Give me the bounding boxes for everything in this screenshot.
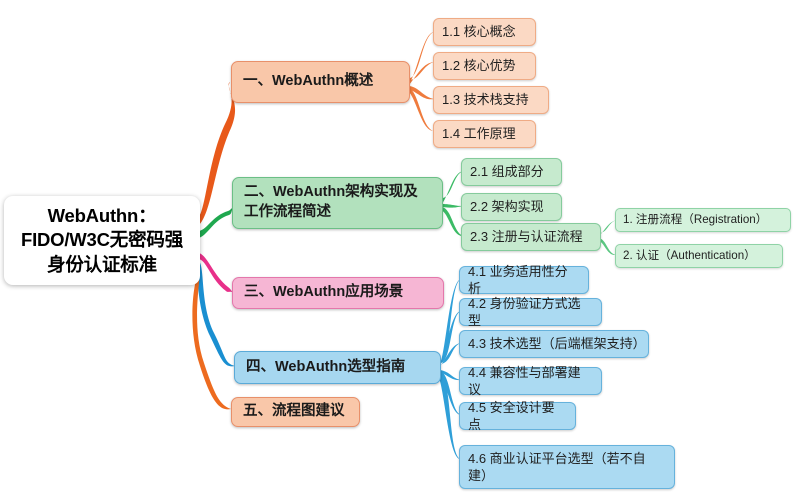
branch-node-3[interactable]: 三、WebAuthn应用场景 [232,277,444,309]
child-node-2-2[interactable]: 2.2 架构实现 [461,193,562,221]
edge-root-branch-3 [199,253,233,292]
child-node-2-1[interactable]: 2.1 组成部分 [461,158,562,186]
child-node-4-2[interactable]: 4.2 身份验证方式选型 [459,298,602,326]
child-node-4-4[interactable]: 4.4 兼容性与部署建议 [459,367,602,395]
child-node-2-3[interactable]: 2.3 注册与认证流程 [461,223,601,251]
edge-branch-1-child-2 [409,62,434,85]
branch-node-1[interactable]: 一、WebAuthn概述 [231,61,410,103]
edge-branch-4-child-3 [439,343,461,367]
root-node[interactable]: WebAuthn： FIDO/W3C无密码强 身份认证标准 [4,196,200,285]
child-node-4-1[interactable]: 4.1 业务适用性分析 [459,266,589,294]
branch-node-5[interactable]: 五、流程图建议 [231,397,360,427]
edge-branch-4-child-5 [438,371,461,415]
edge-root-branch-2 [199,208,233,238]
branch-node-4[interactable]: 四、WebAuthn选型指南 [234,351,441,384]
edge-root-branch-5 [192,269,231,409]
edge-branch-4-child-4 [439,370,461,380]
child-node-1-1[interactable]: 1.1 核心概念 [433,18,536,46]
child-node-1-4[interactable]: 1.4 工作原理 [433,120,536,148]
mindmap-canvas: WebAuthn： FIDO/W3C无密码强 身份认证标准 一、WebAuthn… [0,0,799,500]
child-node-2-3-1[interactable]: 1. 注册流程（Registration） [615,208,791,232]
branch-node-2[interactable]: 二、WebAuthn架构实现及 工作流程简述 [232,177,443,229]
child-node-2-3-2[interactable]: 2. 认证（Authentication） [615,244,783,268]
edge-branch-2-child-2 [442,204,463,208]
child-node-4-3[interactable]: 4.3 技术选型（后端框架支持） [459,330,649,358]
edge-branch-2-child-1 [442,171,463,204]
child-node-1-3[interactable]: 1.3 技术栈支持 [433,86,549,114]
edge-branch-1-child-3 [408,86,434,99]
edge-branch-4-child-6 [437,372,460,459]
edge-root-branch-1 [198,82,235,226]
child-node-4-5[interactable]: 4.5 安全设计要点 [459,402,576,430]
edge-branch-1-child-4 [407,88,433,131]
edge-root-branch-4 [198,261,235,366]
child-node-1-2[interactable]: 1.2 核心优势 [433,52,536,80]
edge-branch-4-child-2 [439,311,461,366]
edge-branch-2-child-3 [441,207,463,236]
edge-branch-1-child-1 [409,32,434,84]
child-node-4-6[interactable]: 4.6 商业认证平台选型（若不自 建） [459,445,675,489]
